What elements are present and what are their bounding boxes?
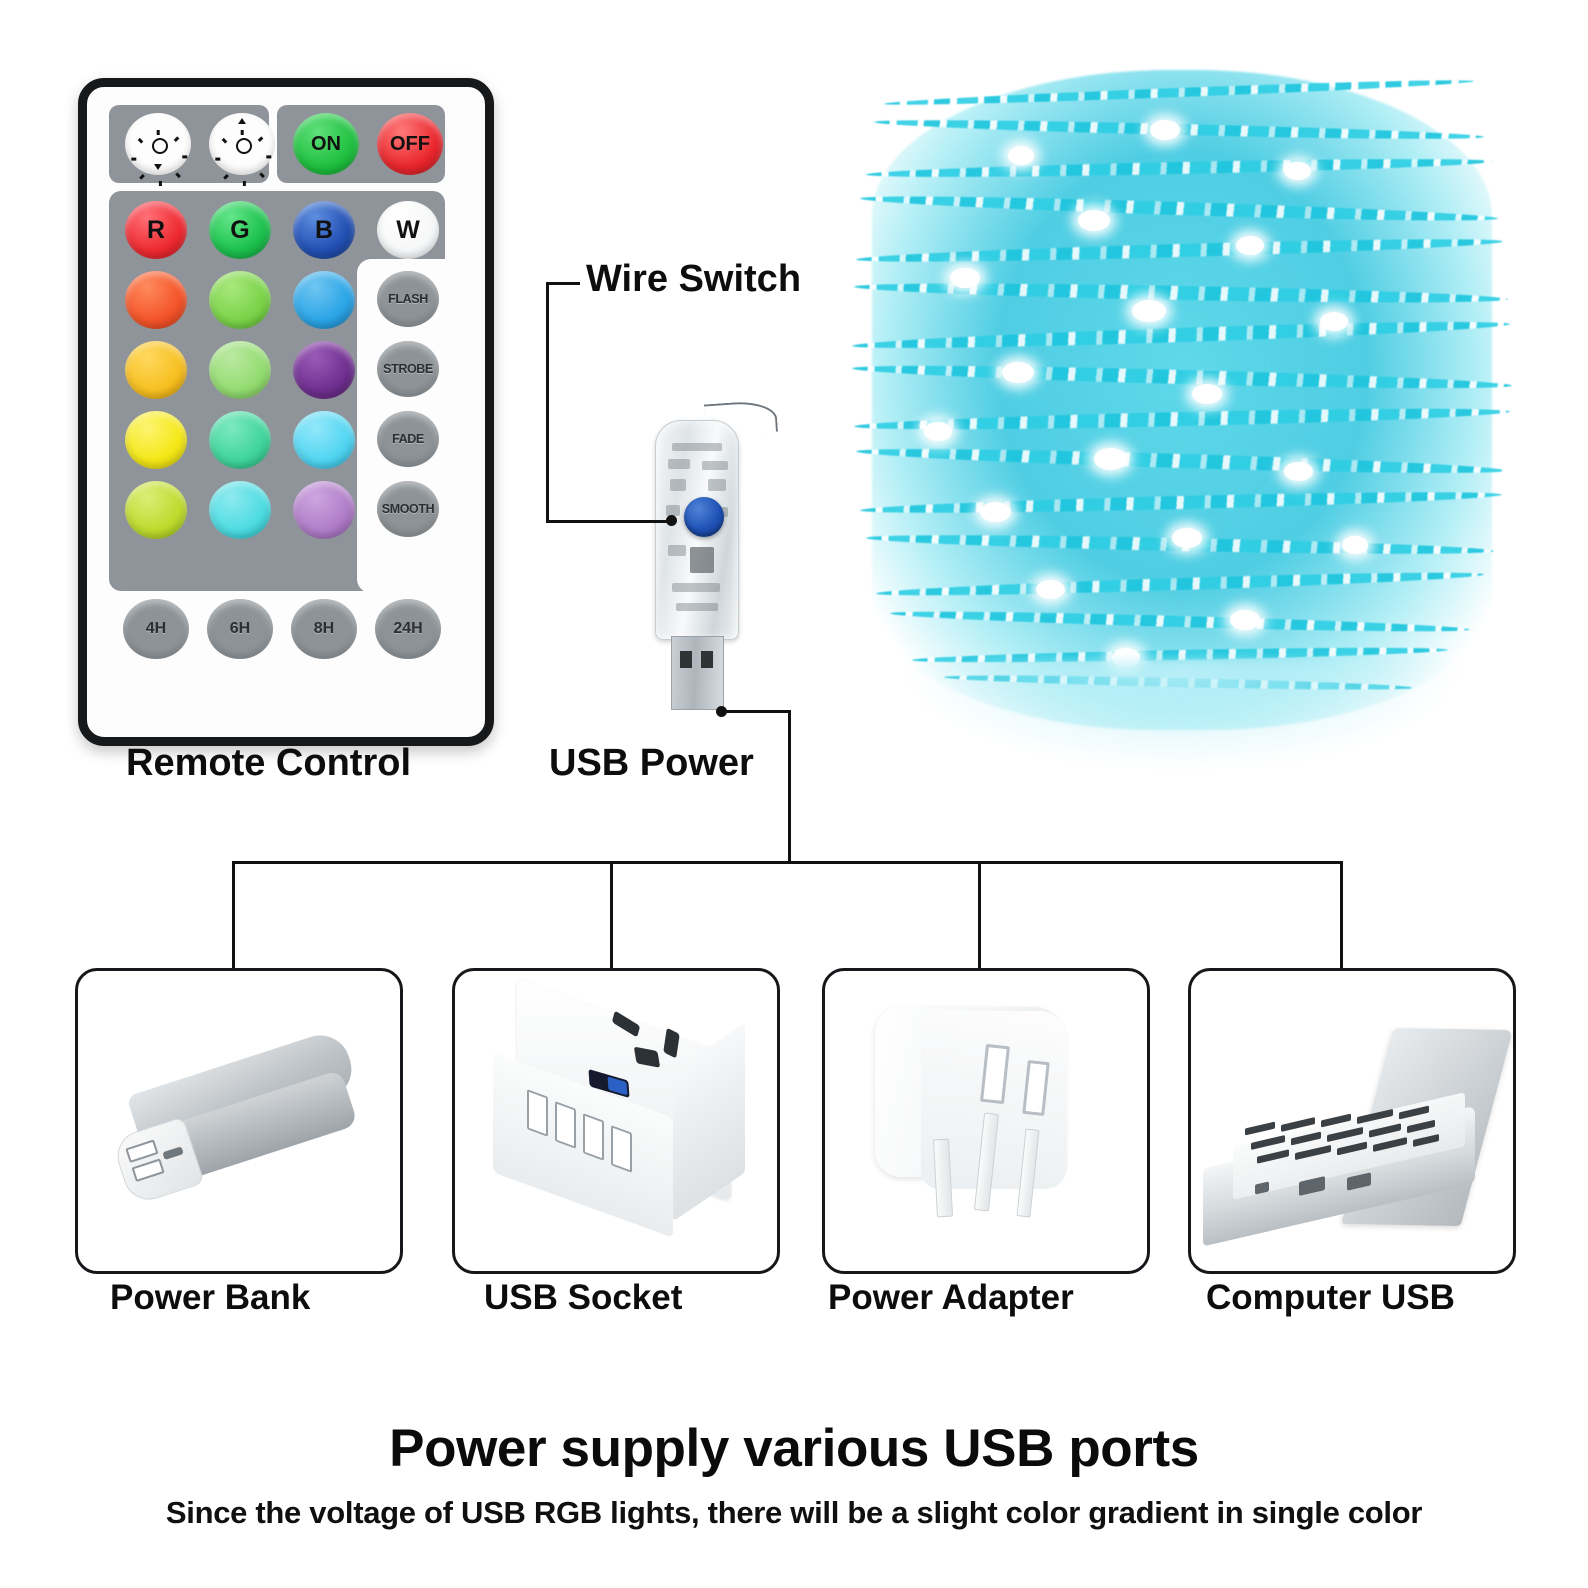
color-swatch-yellow-green[interactable] bbox=[125, 481, 187, 539]
usb-power-leader-h bbox=[724, 710, 790, 713]
headline: Power supply various USB ports bbox=[0, 1418, 1588, 1479]
wire-switch-button[interactable] bbox=[684, 497, 724, 537]
computer-usb-box[interactable] bbox=[1188, 968, 1516, 1274]
power-on-button[interactable]: ON bbox=[293, 113, 359, 175]
color-swatch-purple[interactable] bbox=[293, 341, 355, 399]
branch-power-adapter bbox=[978, 861, 981, 969]
remote-control[interactable]: ON OFF R G B W FLASH STROB bbox=[78, 78, 494, 746]
timer-4h-button[interactable]: 4H bbox=[123, 599, 189, 659]
usb-controller-housing bbox=[655, 420, 739, 640]
power-adapter-icon bbox=[875, 1007, 1097, 1247]
power-adapter-label: Power Adapter bbox=[828, 1278, 1074, 1318]
infographic-canvas: ON OFF R G B W FLASH STROB bbox=[0, 0, 1588, 1588]
color-swatch-sky-blue[interactable] bbox=[293, 271, 355, 329]
color-swatch-pale-green[interactable] bbox=[209, 341, 271, 399]
usb-socket-icon bbox=[477, 1017, 749, 1241]
wire-switch-leader-top bbox=[546, 282, 580, 285]
usb-plug-connector bbox=[671, 636, 724, 710]
wire-switch-leader-dot bbox=[666, 515, 677, 526]
color-g-button[interactable]: G bbox=[209, 201, 271, 259]
wire-switch-leader-bottom bbox=[546, 520, 672, 523]
flash-button[interactable]: FLASH bbox=[377, 271, 439, 327]
color-w-button[interactable]: W bbox=[377, 201, 439, 259]
usb-socket-label: USB Socket bbox=[484, 1278, 682, 1318]
sun-up-icon bbox=[229, 131, 255, 157]
color-swatch-yellow[interactable] bbox=[125, 411, 187, 469]
color-swatch-spring-green[interactable] bbox=[209, 411, 271, 469]
computer-usb-label: Computer USB bbox=[1206, 1278, 1455, 1318]
sun-down-icon bbox=[145, 131, 171, 157]
remote-control-label: Remote Control bbox=[126, 742, 411, 785]
branch-usb-socket bbox=[610, 861, 613, 969]
coil-base-glow bbox=[902, 660, 1462, 770]
strobe-button[interactable]: STROBE bbox=[377, 341, 439, 397]
color-swatch-cyan-blue[interactable] bbox=[293, 411, 355, 469]
subline: Since the voltage of USB RGB lights, the… bbox=[0, 1495, 1588, 1531]
color-swatch-orange-red[interactable] bbox=[125, 271, 187, 329]
usb-controller-module[interactable] bbox=[643, 408, 751, 718]
brightness-up-button[interactable] bbox=[209, 113, 275, 175]
color-swatch-light-green[interactable] bbox=[209, 271, 271, 329]
timer-6h-button[interactable]: 6H bbox=[207, 599, 273, 659]
color-swatch-light-purple[interactable] bbox=[293, 481, 355, 539]
power-bank-box[interactable] bbox=[75, 968, 403, 1274]
branch-computer-usb bbox=[1340, 861, 1343, 969]
power-off-button[interactable]: OFF bbox=[377, 113, 443, 175]
wire-switch-label: Wire Switch bbox=[586, 258, 801, 301]
timer-24h-button[interactable]: 24H bbox=[375, 599, 441, 659]
brightness-down-button[interactable] bbox=[125, 113, 191, 175]
power-bank-icon bbox=[104, 1028, 377, 1219]
color-r-button[interactable]: R bbox=[125, 201, 187, 259]
smooth-button[interactable]: SMOOTH bbox=[377, 481, 439, 537]
color-swatch-amber[interactable] bbox=[125, 341, 187, 399]
branch-power-bank bbox=[232, 861, 235, 969]
wire-switch-leader-vert bbox=[546, 282, 549, 522]
color-b-button[interactable]: B bbox=[293, 201, 355, 259]
power-adapter-box[interactable] bbox=[822, 968, 1150, 1274]
laptop-icon bbox=[1199, 1041, 1505, 1241]
usb-socket-box[interactable] bbox=[452, 968, 780, 1274]
usb-power-leader-v bbox=[788, 710, 791, 863]
led-string-light-coil bbox=[832, 50, 1532, 750]
distribution-bus bbox=[232, 861, 1342, 864]
usb-power-label: USB Power bbox=[549, 742, 754, 785]
fade-button[interactable]: FADE bbox=[377, 411, 439, 467]
color-swatch-cyan[interactable] bbox=[209, 481, 271, 539]
timer-8h-button[interactable]: 8H bbox=[291, 599, 357, 659]
power-bank-label: Power Bank bbox=[110, 1278, 310, 1318]
